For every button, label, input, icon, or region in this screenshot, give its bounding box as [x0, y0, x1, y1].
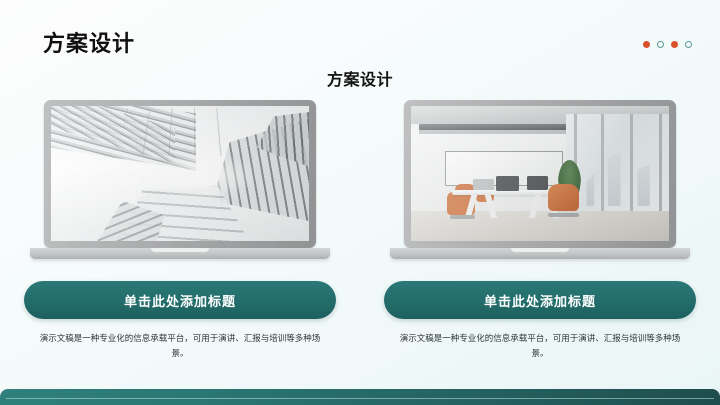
laptop-base-right	[390, 248, 690, 259]
page-title: 方案设计	[43, 26, 135, 58]
monitor	[527, 176, 548, 190]
laptop-lid-left	[44, 100, 316, 248]
pagination-dot-4[interactable]	[685, 41, 692, 48]
skyscraper-image	[51, 106, 309, 241]
slide-canvas: 方案设计 方案设计	[0, 0, 720, 405]
pagination-dots[interactable]	[643, 41, 692, 48]
laptop-on-table	[473, 179, 494, 190]
upper-grid	[118, 108, 241, 156]
pagination-dot-1[interactable]	[643, 41, 650, 48]
add-title-button-right[interactable]: 单击此处添加标题	[384, 281, 696, 319]
office-image	[411, 106, 669, 241]
office-chair-foreground	[548, 184, 579, 211]
laptop-screen-left	[51, 106, 309, 241]
dark-beam	[419, 124, 579, 131]
add-title-button-left-label: 单击此处添加标题	[124, 291, 236, 310]
section-title: 方案设计	[0, 66, 720, 90]
laptop-screen-right	[411, 106, 669, 241]
laptop-lid-right	[404, 100, 676, 248]
caption-right: 演示文稿是一种专业化的信息承载平台，可用于演讲、汇报与培训等多种场景。	[399, 331, 681, 361]
chair-base	[548, 213, 579, 217]
pagination-dot-3[interactable]	[671, 41, 678, 48]
caption-left: 演示文稿是一种专业化的信息承载平台，可用于演讲、汇报与培训等多种场景。	[39, 331, 321, 361]
sky-glow	[149, 152, 257, 201]
content-columns: 单击此处添加标题 演示文稿是一种专业化的信息承载平台，可用于演讲、汇报与培训等多…	[0, 100, 720, 361]
laptop-base-left	[30, 248, 330, 259]
laptop-mockup-left	[30, 100, 330, 259]
bottom-accent-bar	[0, 389, 720, 405]
content-column-left: 单击此处添加标题 演示文稿是一种专业化的信息承载平台，可用于演讲、汇报与培训等多…	[0, 100, 360, 361]
chair-base	[450, 215, 476, 219]
add-title-button-left[interactable]: 单击此处添加标题	[24, 281, 336, 319]
pagination-dot-2[interactable]	[657, 41, 664, 48]
content-column-right: 单击此处添加标题 演示文稿是一种专业化的信息承载平台，可用于演讲、汇报与培训等多…	[360, 100, 720, 361]
monitor	[496, 176, 519, 191]
laptop-mockup-right	[390, 100, 690, 259]
add-title-button-right-label: 单击此处添加标题	[484, 291, 596, 310]
beam-shadow	[419, 130, 579, 134]
